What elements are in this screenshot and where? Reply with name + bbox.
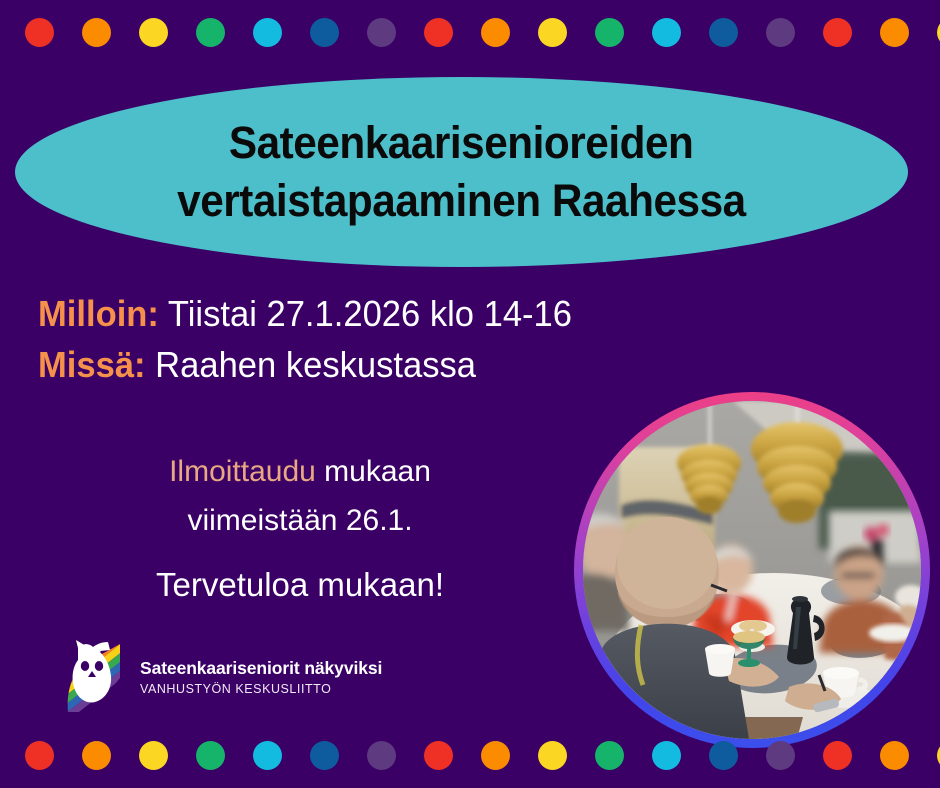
decorative-dot	[424, 18, 453, 47]
decorative-dot	[709, 18, 738, 47]
decorative-dot	[310, 18, 339, 47]
logo-title: Sateenkaariseniorit näkyviksi	[140, 658, 382, 679]
signup-line-2: viimeistään 26.1.	[60, 497, 540, 546]
decorative-dot	[253, 18, 282, 47]
decorative-dot	[25, 18, 54, 47]
decorative-dot	[538, 741, 567, 770]
meeting-photo	[583, 401, 921, 739]
decorative-dot	[367, 741, 396, 770]
detail-row-when: Milloin: Tiistai 27.1.2026 klo 14-16	[38, 288, 672, 339]
decorative-dot	[367, 18, 396, 47]
detail-label-where: Missä:	[38, 344, 146, 385]
detail-row-where: Missä: Raahen keskustassa	[38, 339, 672, 390]
signup-highlight: Ilmoittaudu	[169, 455, 316, 488]
detail-label-when: Milloin:	[38, 293, 159, 334]
decorative-dot	[652, 741, 681, 770]
owl-rainbow-icon	[62, 638, 124, 716]
decorative-dot	[424, 741, 453, 770]
decorative-dot	[595, 741, 624, 770]
decorative-dot	[766, 741, 795, 770]
welcome-message: Tervetuloa mukaan!	[60, 566, 540, 604]
decorative-dot	[538, 18, 567, 47]
signup-line-1-rest: mukaan	[316, 455, 431, 488]
decorative-dot	[82, 18, 111, 47]
title-line-1: Sateenkaarisenioreiden	[229, 114, 694, 172]
photo-gradient-ring	[574, 392, 930, 748]
decorative-dot	[823, 18, 852, 47]
decorative-dot	[595, 18, 624, 47]
decorative-dot	[652, 18, 681, 47]
decorative-dot	[253, 741, 282, 770]
decorative-dot	[196, 741, 225, 770]
decorative-dot	[25, 741, 54, 770]
decorative-dot	[139, 18, 168, 47]
title-ellipse: Sateenkaarisenioreiden vertaistapaaminen…	[15, 77, 908, 267]
decorative-dot	[766, 18, 795, 47]
decorative-dot	[139, 741, 168, 770]
logo-subtitle: VANHUSTYÖN KESKUSLIITTO	[140, 682, 382, 696]
logo-text-block: Sateenkaariseniorit näkyviksi VANHUSTYÖN…	[140, 658, 382, 696]
decorative-dot	[880, 741, 909, 770]
detail-value-when: Tiistai 27.1.2026 klo 14-16	[168, 293, 572, 334]
event-details: Milloin: Tiistai 27.1.2026 klo 14-16 Mis…	[38, 288, 698, 390]
bottom-dot-row	[0, 741, 940, 771]
decorative-dot	[880, 18, 909, 47]
decorative-dot	[196, 18, 225, 47]
organisation-logo: Sateenkaariseniorit näkyviksi VANHUSTYÖN…	[62, 638, 382, 716]
top-dot-row	[0, 18, 940, 48]
decorative-dot	[82, 741, 111, 770]
signup-block: Ilmoittaudu mukaan viimeistään 26.1.	[60, 448, 540, 546]
decorative-dot	[823, 741, 852, 770]
signup-line-1: Ilmoittaudu mukaan	[60, 448, 540, 497]
photo-circle	[583, 401, 921, 739]
decorative-dot	[481, 18, 510, 47]
decorative-dot	[481, 741, 510, 770]
detail-value-where: Raahen keskustassa	[155, 344, 476, 385]
title-line-2: vertaistapaaminen Raahessa	[177, 172, 746, 230]
decorative-dot	[310, 741, 339, 770]
decorative-dot	[709, 741, 738, 770]
poster-canvas: Sateenkaarisenioreiden vertaistapaaminen…	[0, 0, 940, 788]
